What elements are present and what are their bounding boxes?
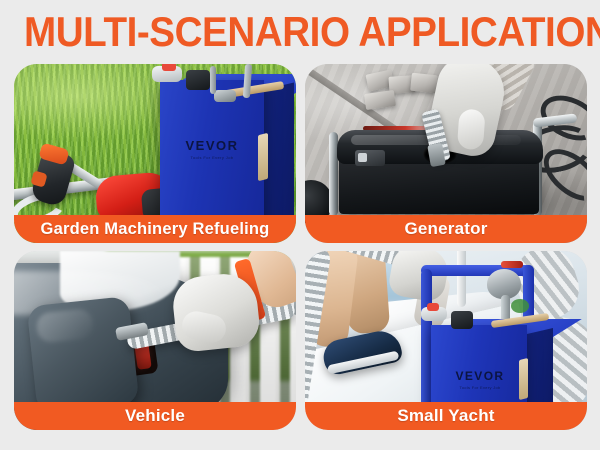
yacht-rail: [457, 251, 466, 307]
fuel-caddy-side-face: [264, 83, 294, 232]
scenario-card-vehicle[interactable]: Vehicle: [14, 251, 296, 430]
vevor-tagline: Tools For Every Job: [172, 155, 252, 160]
fuel-tank-cap: [451, 311, 473, 329]
scenario-card-grid: VEVOR Tools For Every Job Garden Machine…: [14, 64, 587, 431]
fuel-tank-side-strip: [519, 358, 528, 400]
fuel-caddy-nozzle-tip: [162, 64, 176, 71]
vevor-tagline: Tools For Every Job: [441, 385, 519, 390]
card-label-garden: Garden Machinery Refueling: [41, 220, 270, 239]
stone-block: [410, 73, 438, 94]
card-label-generator: Generator: [404, 219, 487, 239]
card-label-band-garden: Garden Machinery Refueling: [14, 215, 296, 243]
vevor-logo-card4: VEVOR Tools For Every Job: [441, 369, 519, 390]
generator-control-panel: [355, 150, 385, 166]
fuel-caddy-side-strip: [258, 133, 268, 181]
page-title: MULTI-SCENARIO APPLICATION: [24, 9, 576, 55]
vevor-wordmark: VEVOR: [185, 138, 238, 153]
scenario-card-generator[interactable]: Generator: [305, 64, 587, 243]
scenario-card-garden-machinery-refueling[interactable]: VEVOR Tools For Every Job Garden Machine…: [14, 64, 296, 243]
vevor-wordmark: VEVOR: [455, 369, 504, 383]
card-label-yacht: Small Yacht: [397, 406, 494, 426]
car-fuel-flap: [27, 296, 140, 414]
card-label-band-vehicle: Vehicle: [14, 402, 296, 430]
green-fitting: [511, 299, 529, 313]
card-label-band-generator: Generator: [305, 215, 587, 243]
pump-red-accent: [501, 261, 523, 268]
fuel-caddy-cap: [186, 70, 210, 90]
card-label-vehicle: Vehicle: [125, 406, 185, 426]
fuel-caddy-handle-left: [210, 66, 216, 94]
poster: MULTI-SCENARIO APPLICATION: [0, 0, 600, 450]
scenario-card-small-yacht[interactable]: VEVOR Tools For Every Job Small Yacht: [305, 251, 587, 430]
vevor-logo-card1: VEVOR Tools For Every Job: [172, 138, 252, 160]
fuel-tank-nozzle-tip: [427, 303, 439, 311]
card-label-band-yacht: Small Yacht: [305, 402, 587, 430]
fuel-caddy-valve: [214, 90, 236, 102]
